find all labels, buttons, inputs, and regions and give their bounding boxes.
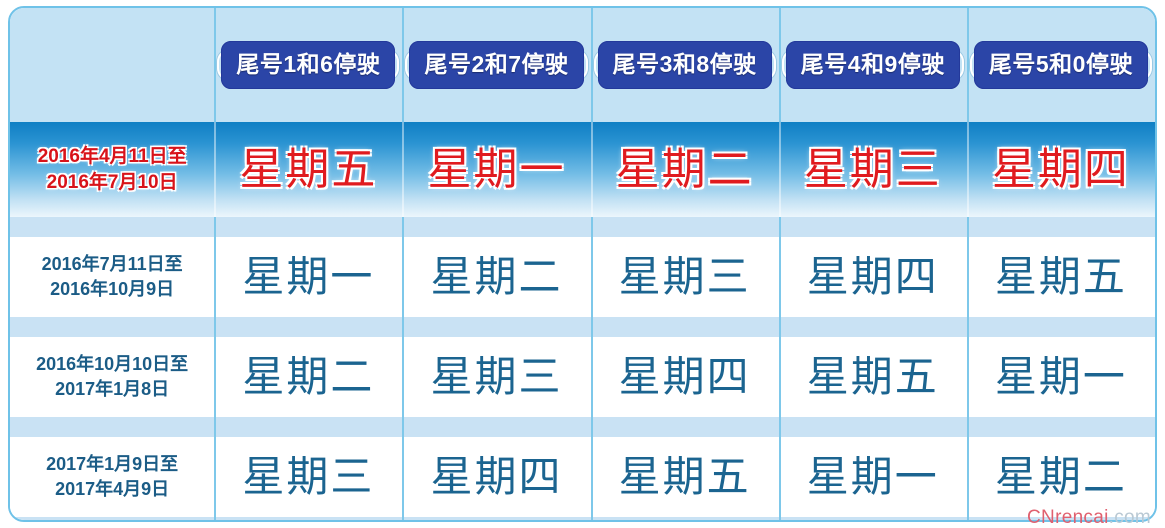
separator-segment [214,317,402,337]
column-header-cell-5: 尾号5和0停驶 [967,8,1155,122]
separator-segment [214,417,402,437]
day-label: 星期三 [242,456,374,498]
day-label: 星期二 [242,356,374,398]
period-cell-4: 2017年1月9日至 2017年4月9日 [10,437,214,517]
period-cell-2: 2016年7月11日至 2016年10月9日 [10,237,214,317]
day-cell-r1c3: 星期二 [591,122,779,217]
separator-segment [967,417,1155,437]
separator-segment [10,417,214,437]
separator-segment [10,517,214,522]
period-line2-4: 2017年4月9日 [46,477,178,502]
day-cell-r3c3: 星期四 [591,337,779,417]
day-cell-r3c5: 星期一 [967,337,1155,417]
period-line1-3: 2016年10月10日至 [36,352,188,377]
day-cell-r3c4: 星期五 [779,337,967,417]
separator-segment [779,217,967,237]
period-cell-1: 2016年4月11日至 2016年7月10日 [10,122,214,217]
separator-segment [402,217,590,237]
period-cell-3: 2016年10月10日至 2017年1月8日 [10,337,214,417]
badge-outline-4: 尾号4和9停驶 [782,49,964,81]
separator-segment [402,517,590,522]
day-label: 星期三 [431,356,563,398]
day-label: 星期四 [807,256,939,298]
table-row: 2017年1月9日至 2017年4月9日 星期三 星期四 星期五 星期一 星期二 [10,437,1155,517]
day-label: 星期二 [995,456,1127,498]
day-label: 星期五 [619,456,751,498]
restriction-schedule-table: 尾号1和6停驶 尾号2和7停驶 尾号3和8停驶 尾号4和9停驶 [8,6,1157,522]
day-label: 星期四 [431,456,563,498]
separator-segment [779,317,967,337]
day-cell-r2c2: 星期二 [402,237,590,317]
separator-segment [402,317,590,337]
day-cell-r4c3: 星期五 [591,437,779,517]
row-separator-1 [10,217,1155,237]
badge-outline-5: 尾号5和0停驶 [970,49,1152,81]
table-bottom-strip [10,517,1155,522]
badge-outline-2: 尾号2和7停驶 [405,49,587,81]
separator-segment [967,317,1155,337]
column-header-badge-1: 尾号1和6停驶 [221,41,395,89]
column-header-badge-2: 尾号2和7停驶 [409,41,583,89]
day-label: 星期五 [807,356,939,398]
badge-outline-1: 尾号1和6停驶 [217,49,399,81]
badge-outline-3: 尾号3和8停驶 [594,49,776,81]
column-header-cell-1: 尾号1和6停驶 [214,8,402,122]
day-cell-r1c5: 星期四 [967,122,1155,217]
period-label-4: 2017年1月9日至 2017年4月9日 [46,452,178,502]
row-separator-2 [10,317,1155,337]
row-separator-3 [10,417,1155,437]
day-label: 星期五 [995,256,1127,298]
separator-segment [591,317,779,337]
separator-segment [779,517,967,522]
day-label: 星期五 [239,148,377,192]
separator-segment [591,417,779,437]
day-label: 星期四 [619,356,751,398]
day-label: 星期一 [428,148,566,192]
separator-segment [967,217,1155,237]
day-cell-r1c2: 星期一 [402,122,590,217]
table-header-row: 尾号1和6停驶 尾号2和7停驶 尾号3和8停驶 尾号4和9停驶 [10,8,1155,122]
column-header-cell-2: 尾号2和7停驶 [402,8,590,122]
separator-segment [10,217,214,237]
day-label: 星期三 [804,148,942,192]
day-cell-r4c1: 星期三 [214,437,402,517]
column-header-badge-5: 尾号5和0停驶 [974,41,1148,89]
day-cell-r2c4: 星期四 [779,237,967,317]
period-label-1: 2016年4月11日至 2016年7月10日 [38,144,187,195]
period-line2-2: 2016年10月9日 [42,277,183,302]
day-cell-r1c1: 星期五 [214,122,402,217]
period-label-2: 2016年7月11日至 2016年10月9日 [42,252,183,302]
day-cell-r4c4: 星期一 [779,437,967,517]
table-row: 2016年7月11日至 2016年10月9日 星期一 星期二 星期三 星期四 星… [10,237,1155,317]
day-cell-r2c3: 星期三 [591,237,779,317]
period-line2-3: 2017年1月8日 [36,377,188,402]
column-header-cell-3: 尾号3和8停驶 [591,8,779,122]
day-cell-r4c5: 星期二 [967,437,1155,517]
day-cell-r2c1: 星期一 [214,237,402,317]
separator-segment [591,517,779,522]
column-header-cell-4: 尾号4和9停驶 [779,8,967,122]
day-label: 星期一 [242,256,374,298]
separator-segment [591,217,779,237]
day-cell-r2c5: 星期五 [967,237,1155,317]
day-cell-r4c2: 星期四 [402,437,590,517]
separator-segment [967,517,1155,522]
day-label: 星期二 [431,256,563,298]
period-line1-4: 2017年1月9日至 [46,452,178,477]
day-label: 星期一 [807,456,939,498]
period-line2-1: 2016年7月10日 [38,170,187,196]
period-label-3: 2016年10月10日至 2017年1月8日 [36,352,188,402]
day-cell-r3c2: 星期三 [402,337,590,417]
traffic-restriction-table-page: 尾号1和6停驶 尾号2和7停驶 尾号3和8停驶 尾号4和9停驶 [0,0,1165,528]
separator-segment [10,317,214,337]
day-cell-r3c1: 星期二 [214,337,402,417]
period-line1-2: 2016年7月11日至 [42,252,183,277]
separator-segment [402,417,590,437]
day-label: 星期四 [992,148,1130,192]
day-label: 星期二 [616,148,754,192]
period-line1-1: 2016年4月11日至 [38,144,187,170]
table-row: 2016年4月11日至 2016年7月10日 星期五 星期一 星期二 星期三 星… [10,122,1155,217]
header-corner-cell [10,8,214,122]
column-header-badge-4: 尾号4和9停驶 [786,41,960,89]
separator-segment [214,217,402,237]
separator-segment [214,517,402,522]
day-label: 星期三 [619,256,751,298]
day-cell-r1c4: 星期三 [779,122,967,217]
table-row: 2016年10月10日至 2017年1月8日 星期二 星期三 星期四 星期五 星… [10,337,1155,417]
column-header-badge-3: 尾号3和8停驶 [598,41,772,89]
day-label: 星期一 [995,356,1127,398]
separator-segment [779,417,967,437]
